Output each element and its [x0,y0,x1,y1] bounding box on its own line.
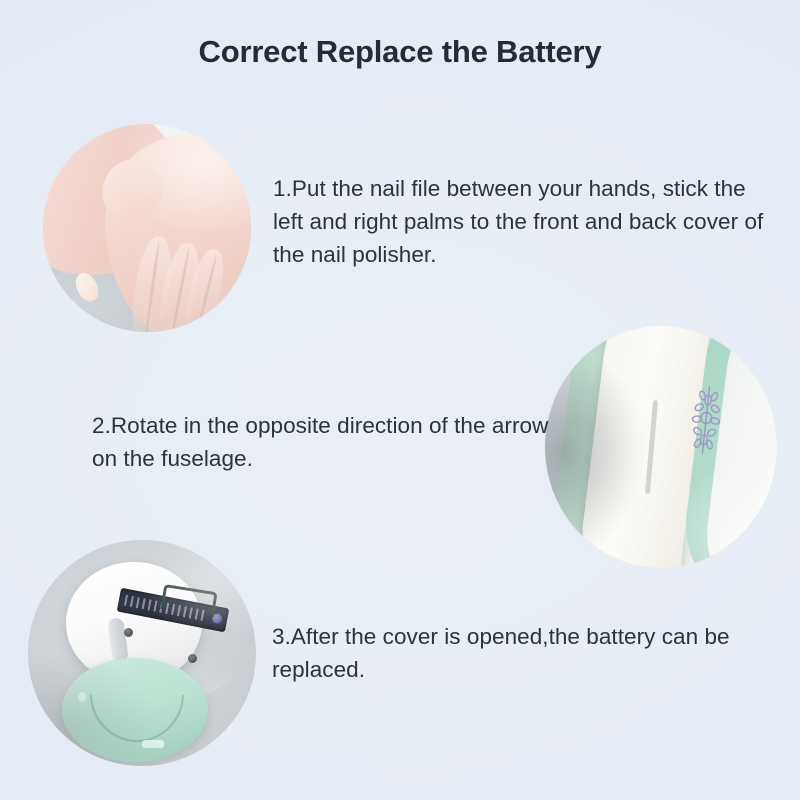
hands-holding-nail-polisher-photo [43,124,251,332]
device-shell-closeup-photo [545,326,777,568]
step-1-instruction-text: 1.Put the nail file between your hands, … [273,172,768,271]
step-2-instruction-text: 2.Rotate in the opposite direction of th… [92,409,552,475]
photo-shading-overlay [28,540,256,766]
opened-battery-compartment-photo [28,540,256,766]
photo-highlight-overlay [43,124,251,332]
step-3-instruction-text: 3.After the cover is opened,the battery … [272,620,752,686]
page-title: Correct Replace the Battery [0,34,800,70]
photo-shading-overlay [545,326,777,568]
infographic-page: Correct Replace the Battery 1.Put the na… [0,0,800,800]
